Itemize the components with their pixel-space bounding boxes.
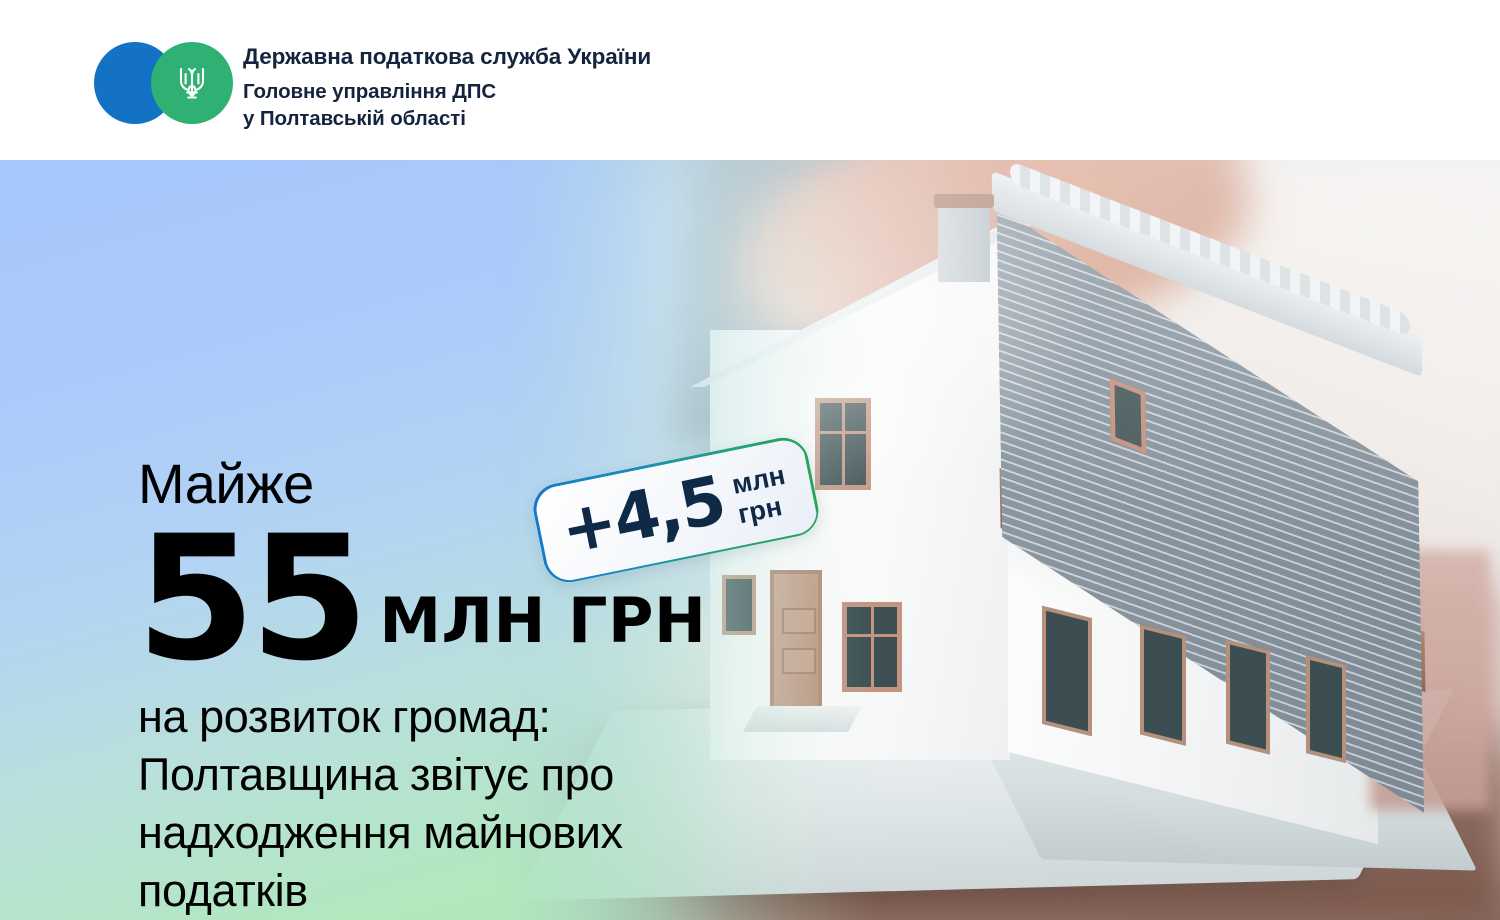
org-line-2: Головне управління ДПС — [243, 78, 651, 105]
green-circle-icon — [151, 42, 233, 124]
logo-marks — [94, 42, 229, 126]
main-content: Майже 55 МЛН ГРН на розвиток громад: Пол… — [0, 160, 1500, 920]
poster-canvas: Державна податкова служба України Головн… — [0, 0, 1500, 920]
trident-emblem-icon — [175, 62, 209, 104]
headline-amount-unit: МЛН ГРН — [379, 590, 706, 666]
badge-unit: млн грн — [728, 454, 794, 530]
gradient-background: Майже 55 МЛН ГРН на розвиток громад: Пол… — [0, 160, 1500, 920]
headline-amount: 55 — [136, 532, 363, 666]
subheadline-text: на розвиток громад: Полтавщина звітує пр… — [138, 688, 798, 920]
org-line-1: Державна податкова служба України — [243, 44, 651, 71]
organization-logo-block: Державна податкова служба України Головн… — [94, 42, 651, 132]
organization-name: Державна податкова служба України Головн… — [243, 42, 651, 132]
badge-value: +4,5 — [556, 470, 729, 562]
org-line-3: у Полтавській області — [243, 105, 651, 132]
header-bar: Державна податкова служба України Головн… — [0, 0, 1500, 160]
